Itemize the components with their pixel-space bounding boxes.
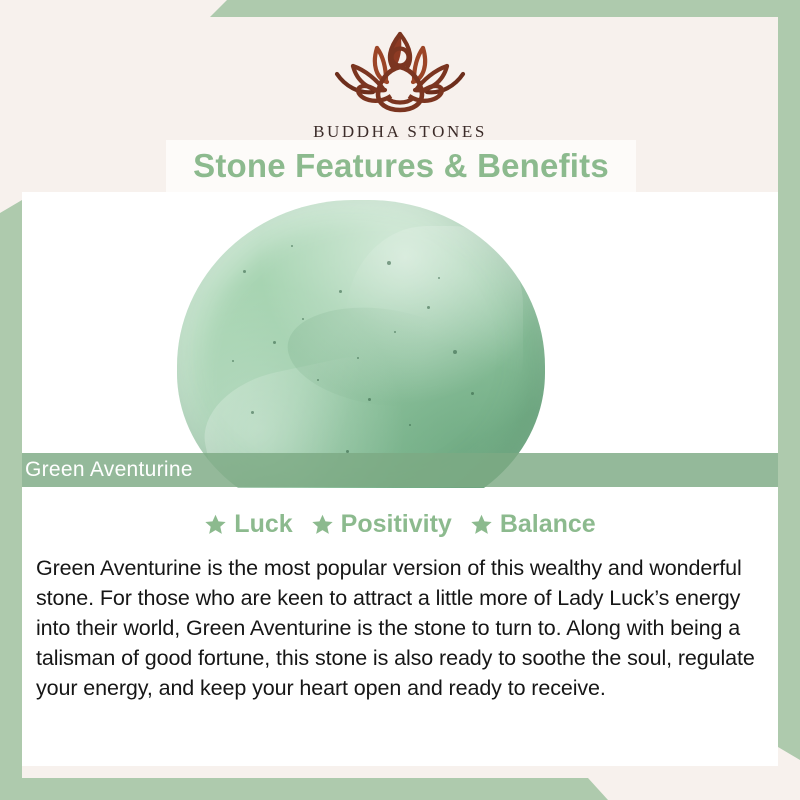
stone-photo: Green Aventurine [22, 192, 778, 488]
frame-border-bottom [0, 778, 800, 800]
description-text: Green Aventurine is the most popular ver… [36, 553, 764, 703]
infographic-page: BUDDHA STONES Stone Features & Benefits [0, 0, 800, 800]
section-title-banner: Stone Features & Benefits [166, 140, 636, 192]
content-card: Green Aventurine Luck Positivity [22, 192, 778, 766]
star-icon [311, 513, 334, 536]
brand-wordmark: BUDDHA STONES [0, 122, 800, 142]
stone-image [177, 200, 545, 488]
stone-name-label: Green Aventurine [25, 458, 193, 482]
description-section: Luck Positivity Balance Green Aventurine… [22, 488, 778, 703]
benefit-item: Positivity [311, 510, 452, 539]
stone-name-label-bar: Green Aventurine [22, 453, 778, 487]
frame-border-top [0, 0, 800, 17]
benefit-item: Balance [470, 510, 596, 539]
benefit-label: Luck [234, 510, 292, 539]
benefits-row: Luck Positivity Balance [22, 510, 778, 539]
lotus-meditation-icon [315, 22, 485, 118]
benefit-label: Positivity [341, 510, 452, 539]
page-title: Stone Features & Benefits [193, 147, 609, 185]
star-icon [470, 513, 493, 536]
star-icon [204, 513, 227, 536]
benefit-item: Luck [204, 510, 292, 539]
benefit-label: Balance [500, 510, 596, 539]
brand-logo-block: BUDDHA STONES [0, 22, 800, 142]
